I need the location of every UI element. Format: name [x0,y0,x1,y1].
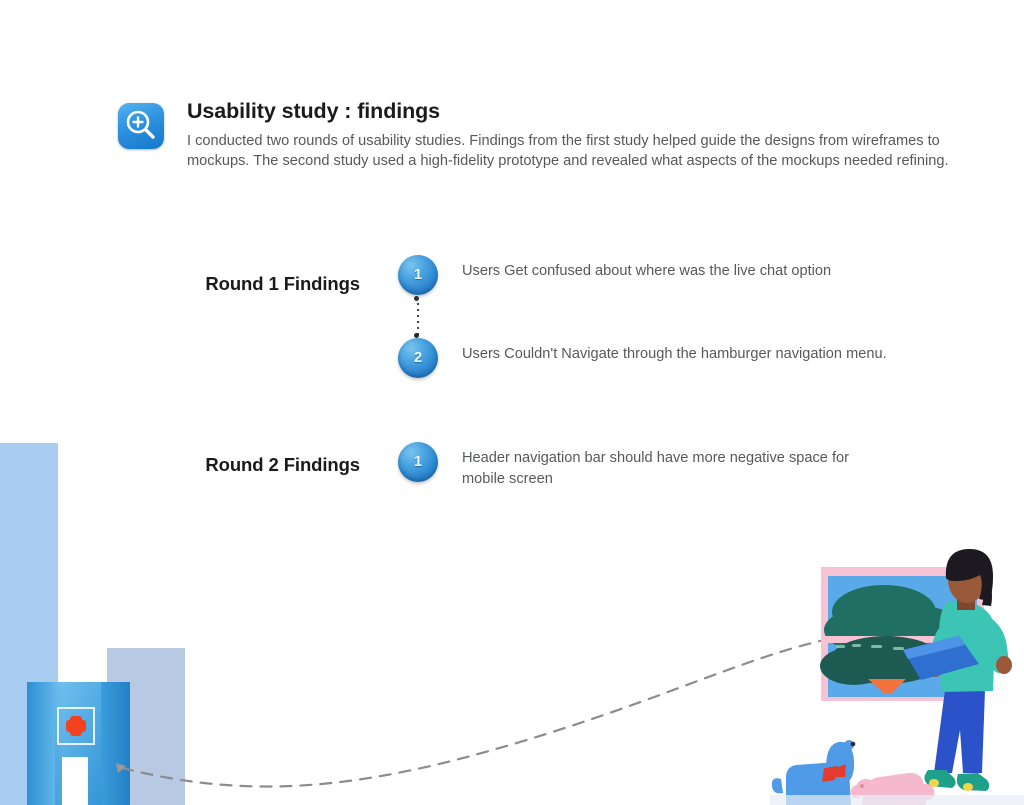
window-landscape-illustration [820,567,984,701]
path-marker-arrow [116,763,126,773]
finding-number-badge: 2 [398,338,438,378]
floor-shade [770,795,1024,805]
round-2-label: Round 2 Findings [60,454,360,476]
page-header: Usability study : findings I conducted t… [118,100,988,172]
blue-dog-illustration [772,740,855,805]
finding-number-badge: 1 [398,442,438,482]
pink-dog-illustration [851,773,935,805]
connector-dotted-line [417,297,419,337]
finding-number-badge: 1 [398,255,438,295]
finding-text: Header navigation bar should have more n… [462,442,892,489]
list-item: 1 Users Get confused about where was the… [398,255,998,299]
building-mid-pale [107,648,185,805]
dashed-journey-path [122,641,820,787]
hospital-building [27,682,130,805]
round-1-findings-list: 1 Users Get confused about where was the… [398,255,998,382]
intro-paragraph: I conducted two rounds of usability stud… [187,131,977,172]
person-holding-folder-illustration [903,549,1012,791]
round-2-findings-list: 1 Header navigation bar should have more… [398,442,998,489]
list-item: 1 Header navigation bar should have more… [398,442,998,489]
page-title: Usability study : findings [187,100,988,124]
magnifier-zoom-in-icon [118,103,164,149]
finding-text: Users Couldn't Navigate through the hamb… [462,338,892,365]
finding-text: Users Get confused about where was the l… [462,255,892,282]
building-tall-light [0,443,58,805]
round-1-label: Round 1 Findings [60,273,360,295]
list-item: 2 Users Couldn't Navigate through the ha… [398,338,998,382]
red-cross-icon [66,716,86,736]
